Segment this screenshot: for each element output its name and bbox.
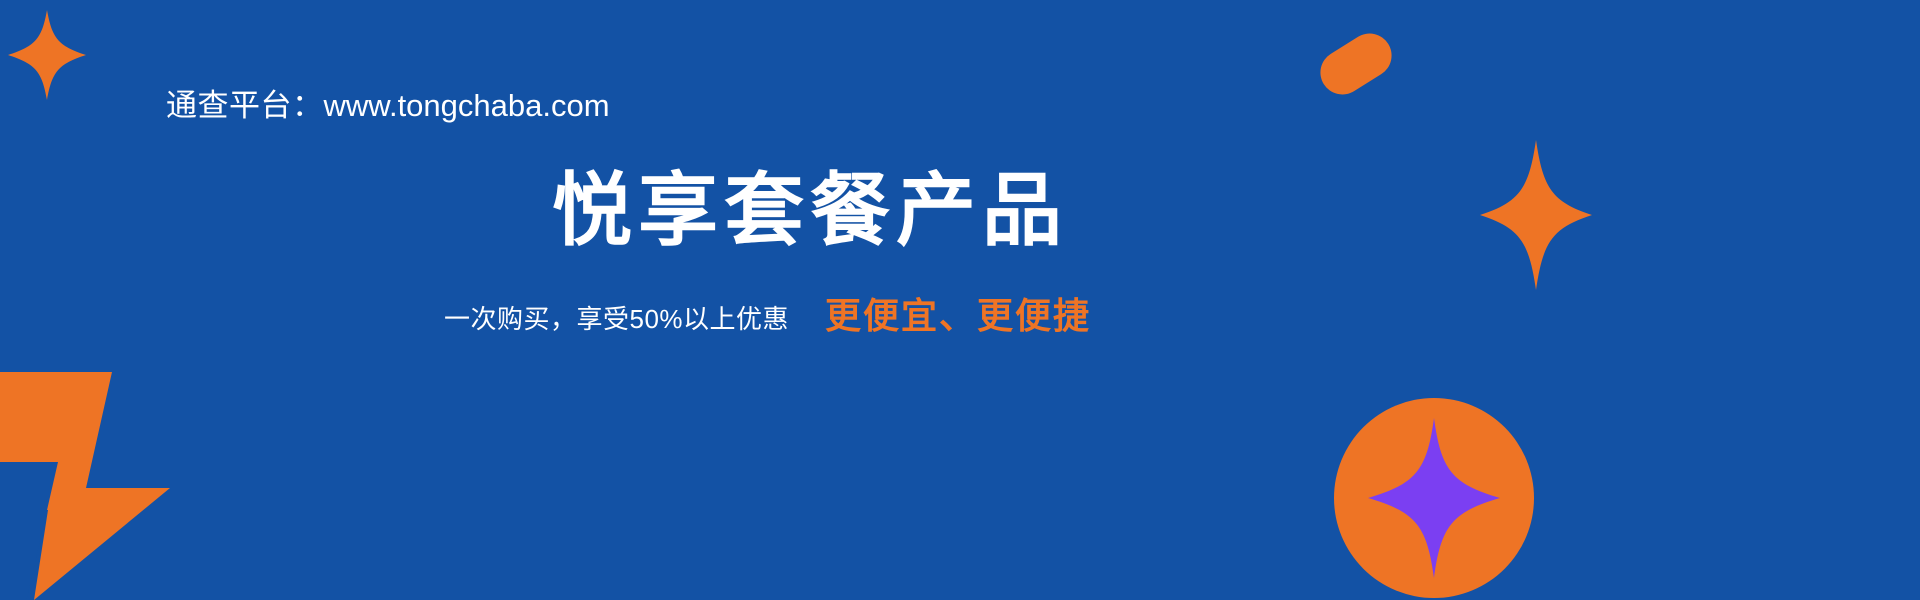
platform-url: www.tongchaba.com — [324, 88, 610, 123]
sparkle-star-icon — [8, 10, 86, 100]
promo-banner: 通查平台：www.tongchaba.com 悦享套餐产品 一次购买，享受50%… — [0, 0, 1920, 600]
subtitle-discount-text: 一次购买，享受50%以上优惠 — [444, 299, 789, 339]
page-title: 悦享套餐产品 — [552, 163, 1068, 259]
sparkle-star-icon — [1480, 140, 1592, 290]
subtitle-row: 一次购买，享受50%以上优惠 更便宜、更便捷 — [444, 296, 1091, 339]
sliver-shape-icon — [0, 462, 58, 600]
sparkle-star-icon — [1368, 418, 1500, 578]
subtitle-highlight-text: 更便宜、更便捷 — [825, 296, 1091, 336]
platform-label: 通查平台： — [166, 88, 324, 123]
platform-line: 通查平台：www.tongchaba.com — [166, 84, 610, 128]
